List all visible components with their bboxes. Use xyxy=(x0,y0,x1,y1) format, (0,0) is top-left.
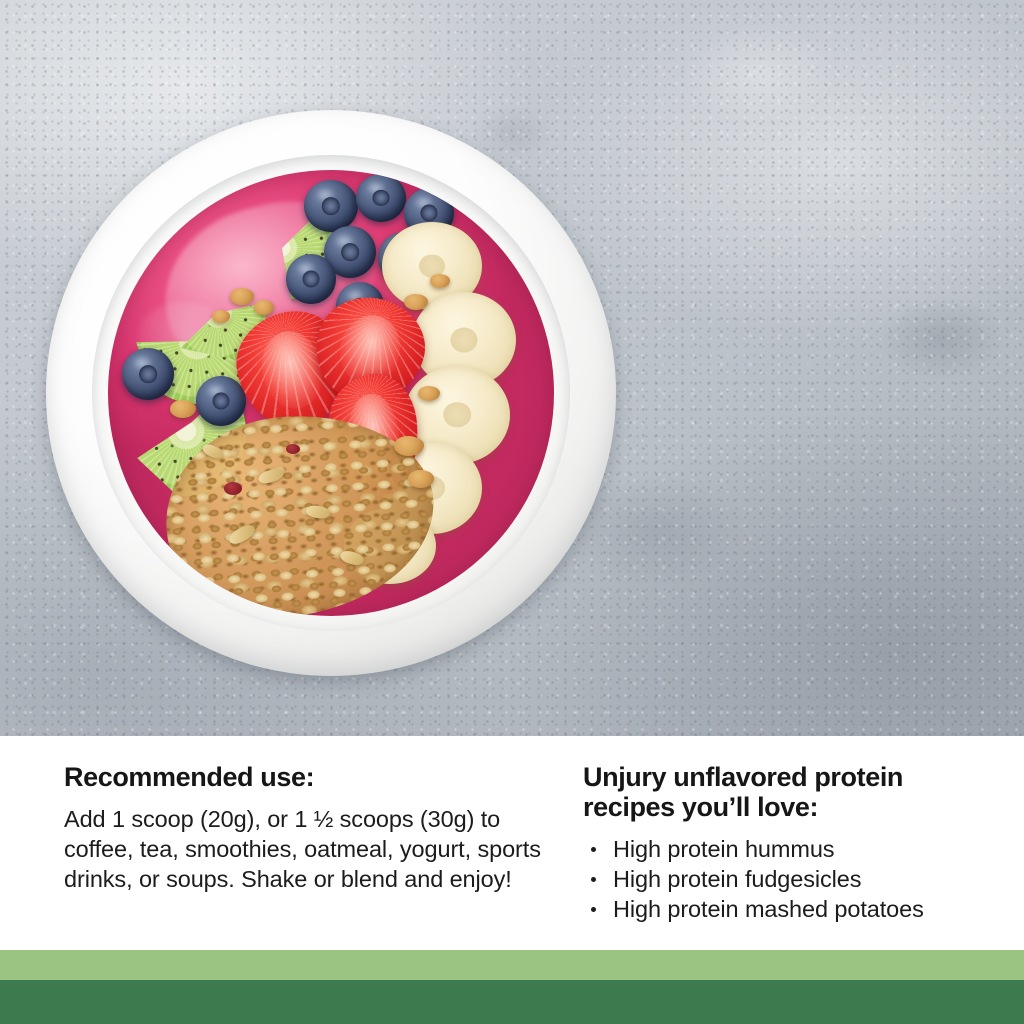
recommended-use-column: Recommended use: Add 1 scoop (20g), or 1… xyxy=(64,762,554,894)
dark-green-band xyxy=(0,980,1024,1024)
recommended-use-heading: Recommended use: xyxy=(64,762,554,792)
product-info-card: Recommended use: Add 1 scoop (20g), or 1… xyxy=(0,0,1024,1024)
recipe-label: High protein mashed potatoes xyxy=(613,896,924,922)
smoothie-surface xyxy=(108,170,554,616)
recipes-heading: Unjury unflavored protein recipes you’ll… xyxy=(583,762,983,822)
bullet-icon xyxy=(591,847,596,852)
recipe-label: High protein hummus xyxy=(613,836,834,862)
list-item: High protein mashed potatoes xyxy=(583,894,983,924)
white-bowl xyxy=(46,110,616,676)
recommended-use-body: Add 1 scoop (20g), or 1 ½ scoops (30g) t… xyxy=(64,804,554,894)
recipes-list: High protein hummus High protein fudgesi… xyxy=(583,834,983,924)
blueberry xyxy=(122,348,174,400)
info-panel: Recommended use: Add 1 scoop (20g), or 1… xyxy=(0,736,1024,950)
dried-cranberry xyxy=(224,482,242,495)
list-item: High protein fudgesicles xyxy=(583,864,983,894)
list-item: High protein hummus xyxy=(583,834,983,864)
dried-cranberry xyxy=(286,444,300,454)
recipe-label: High protein fudgesicles xyxy=(613,866,861,892)
bullet-icon xyxy=(591,877,596,882)
blueberry xyxy=(356,174,406,222)
recipes-column: Unjury unflavored protein recipes you’ll… xyxy=(583,762,983,924)
light-green-band xyxy=(0,950,1024,980)
bullet-icon xyxy=(591,907,596,912)
granola-cluster xyxy=(170,400,196,418)
blueberry xyxy=(304,180,358,232)
blueberry xyxy=(196,376,246,426)
smoothie-bowl-photo xyxy=(0,0,1024,736)
